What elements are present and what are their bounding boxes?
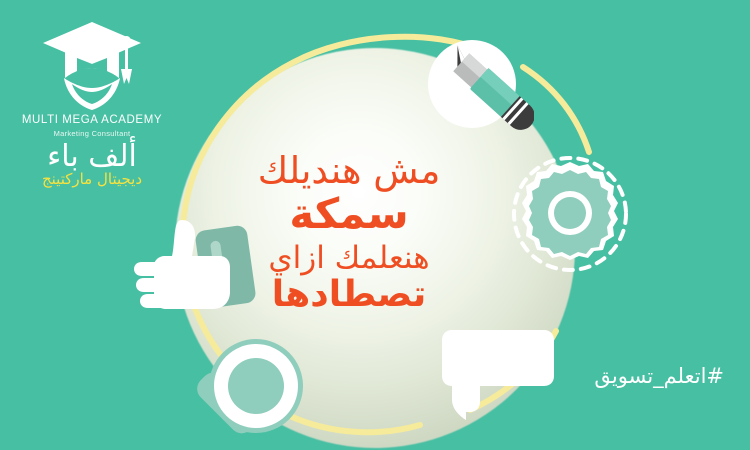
pencil-icon xyxy=(424,22,534,132)
speech-bubble-icon xyxy=(440,326,556,426)
logo-tagline-en: Marketing Consultant xyxy=(12,128,172,139)
poster-canvas: MULTI MEGA ACADEMY Marketing Consultant … xyxy=(0,0,750,450)
hashtag-text: #اتعلم_تسويق xyxy=(594,364,724,388)
gear-icon xyxy=(508,152,632,276)
logo-name-en: MULTI MEGA ACADEMY xyxy=(12,114,172,127)
graduation-cap-icon xyxy=(37,16,147,112)
brand-logo: MULTI MEGA ACADEMY Marketing Consultant … xyxy=(12,16,172,188)
magnifier-icon xyxy=(186,336,316,450)
logo-tagline-ar: ديجيتال ماركتينج xyxy=(12,170,172,188)
logo-name-ar: ألف باء xyxy=(12,140,172,174)
thumbs-up-icon xyxy=(128,212,264,324)
headline-line-1: مش هنديلك xyxy=(224,152,474,189)
